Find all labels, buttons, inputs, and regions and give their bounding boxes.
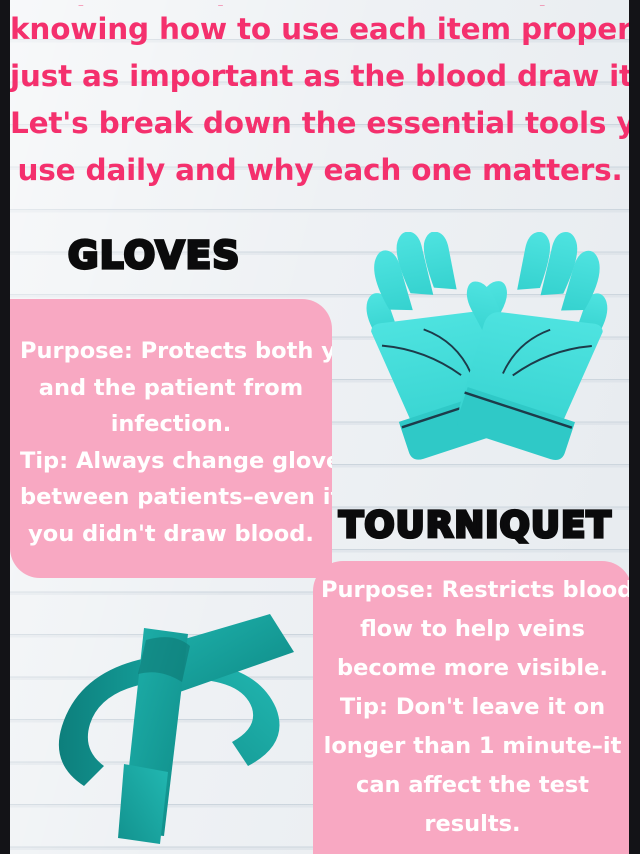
headline-line-1: knowing how to use each item properly is [10,6,630,53]
card-tourniquet-line-3: become more visible. [321,649,624,688]
headline-line-4: use daily and why each one matters. [10,147,630,194]
frame-edge-left [0,0,10,854]
info-card-gloves: Purpose: Protects both you and the patie… [10,299,332,578]
card-tourniquet-line-6: can affect the test [321,766,624,805]
headline-cutoff-line: what goes in your tray matters, but [10,0,630,6]
card-gloves-line-6: you didn't draw blood. [20,516,322,553]
tourniquet-illustration [18,588,328,850]
card-gloves-line-5: between patients–even if [20,479,322,516]
card-gloves-line-4: Tip: Always change gloves [20,443,322,480]
card-tourniquet-line-5: longer than 1 minute–it [321,727,624,766]
info-card-tourniquet: Purpose: Restricts blood flow to help ve… [313,561,632,854]
section-title-tourniquet: TOURNIQUET [339,508,612,544]
section-title-gloves: GLOVES [68,237,241,274]
frame-edge-right [629,0,640,854]
card-gloves-line-1: Purpose: Protects both you [20,333,322,370]
headline-line-2: just as important as the blood draw itse… [10,53,630,100]
card-gloves-line-3: infection. [20,406,322,443]
card-tourniquet-line-1: Purpose: Restricts blood [321,571,624,610]
headline-block: what goes in your tray matters, but know… [10,0,630,194]
card-gloves-line-2: and the patient from [20,370,322,407]
gloves-illustration [340,232,630,522]
card-tourniquet-line-4: Tip: Don't leave it on [321,688,624,727]
headline-line-3: Let's break down the essential tools you… [10,100,630,147]
card-tourniquet-line-7: results. [321,805,624,844]
infographic-screen: what goes in your tray matters, but know… [0,0,640,854]
card-tourniquet-line-2: flow to help veins [321,610,624,649]
